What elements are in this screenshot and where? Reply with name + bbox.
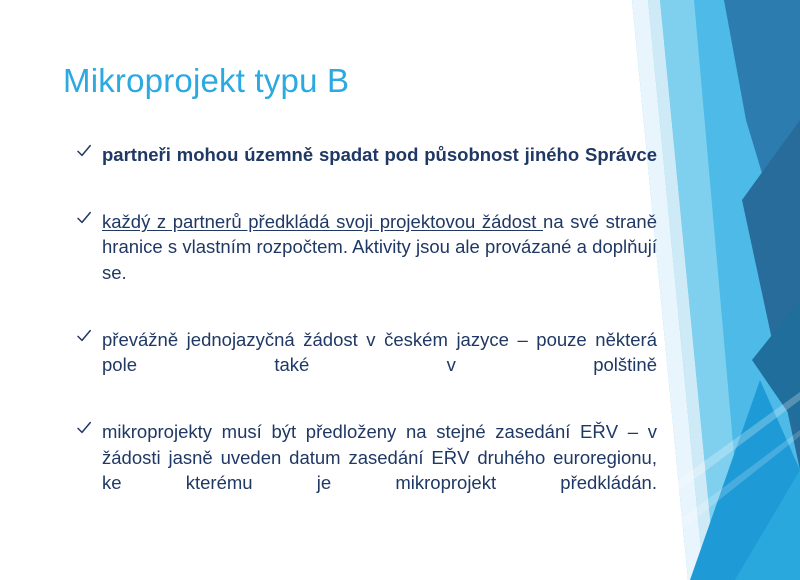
list-item: každý z partnerů předkládá svoji projekt…	[72, 209, 657, 310]
bullet-list: partneři mohou územně spadat pod působno…	[72, 142, 657, 520]
edge-pale-sliver-2	[648, 0, 716, 580]
bottom-bright-wedge-2	[735, 470, 800, 580]
mid-sky-triangle	[660, 0, 800, 580]
steel-overlay-top	[724, 0, 800, 300]
bottom-bright-wedge	[690, 380, 800, 580]
list-item: mikroprojekty musí být předloženy na ste…	[72, 419, 657, 520]
page-title: Mikroprojekt typu B	[63, 62, 349, 100]
check-icon	[76, 143, 92, 159]
mid-sky-triangle-2	[694, 0, 800, 580]
right-steel-shape	[640, 0, 800, 580]
check-icon	[76, 210, 92, 226]
presentation-slide: Mikroprojekt typu B partneři mohou územn…	[0, 0, 800, 580]
list-item-text: převážně jednojazyčná žádost v českém ja…	[102, 327, 657, 402]
list-item: partneři mohou územně spadat pod působno…	[72, 142, 657, 192]
steel-overlay-right	[742, 120, 800, 470]
bottom-deep-wedge	[752, 300, 800, 430]
list-item-text: mikroprojekty musí být předloženy na ste…	[102, 419, 657, 520]
list-item-text: každý z partnerů předkládá svoji projekt…	[102, 209, 657, 310]
list-item: převážně jednojazyčná žádost v českém ja…	[72, 327, 657, 402]
list-item-text: partneři mohou územně spadat pod působno…	[102, 142, 657, 192]
check-icon	[76, 420, 92, 436]
check-icon	[76, 328, 92, 344]
